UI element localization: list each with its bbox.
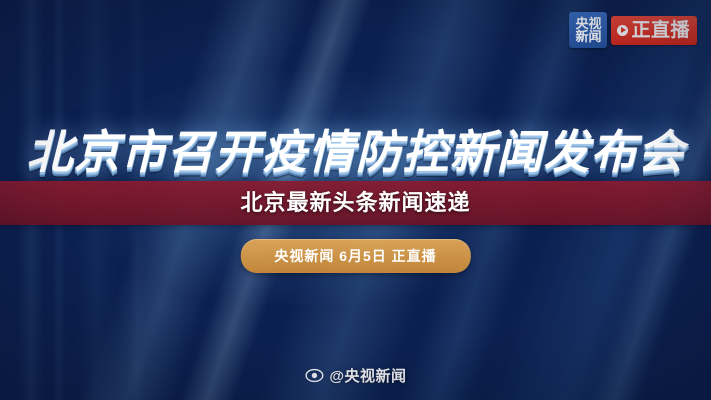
live-badge-label: 正直播 xyxy=(631,21,690,40)
weibo-handle: @央视新闻 xyxy=(329,365,406,386)
news-broadcast-image: 央视 新闻 正直播 北京市召开疫情防控新闻发布会 北京最新头条新闻速递 央视新闻… xyxy=(0,0,711,400)
headline-title: 北京市召开疫情防控新闻发布会 xyxy=(0,126,711,178)
play-icon xyxy=(617,25,628,36)
channel-logo-line2: 新闻 xyxy=(575,30,601,43)
live-badge: 正直播 xyxy=(611,16,697,45)
subtitle-text: 北京最新头条新闻速递 xyxy=(0,189,711,217)
channel-logo: 央视 新闻 正直播 xyxy=(569,12,697,48)
weibo-eye-icon xyxy=(304,366,323,385)
live-info-pill: 央视新闻 6月5日 正直播 xyxy=(240,239,470,273)
weibo-watermark: @央视新闻 xyxy=(304,365,406,386)
cctv-news-logo: 央视 新闻 xyxy=(569,12,607,48)
